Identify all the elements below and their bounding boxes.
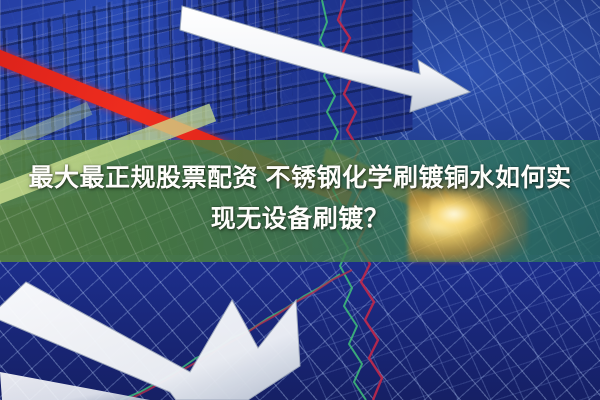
banner-image: 最大最正规股票配资 不锈钢化学刷镀铜水如何实 现无设备刷镀？ — [0, 0, 600, 400]
headline-block: 最大最正规股票配资 不锈钢化学刷镀铜水如何实 现无设备刷镀？ — [0, 159, 600, 255]
headline-line-1: 最大最正规股票配资 不锈钢化学刷镀铜水如何实 — [29, 159, 572, 198]
headline-line-2: 现无设备刷镀？ — [211, 200, 390, 239]
